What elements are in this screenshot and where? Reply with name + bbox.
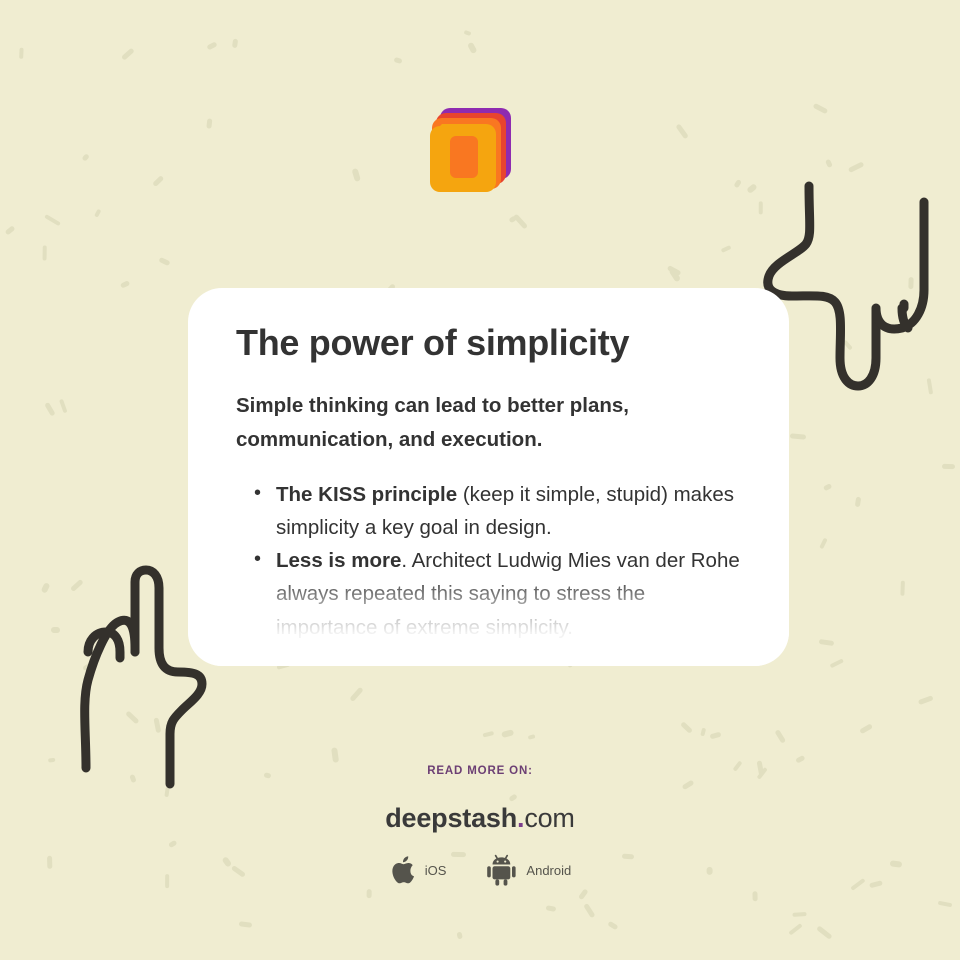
- ios-label: iOS: [425, 863, 447, 878]
- texture-fleck: [501, 730, 514, 738]
- texture-fleck: [367, 889, 372, 898]
- texture-fleck: [842, 339, 853, 350]
- texture-fleck: [482, 730, 493, 737]
- texture-fleck: [159, 257, 171, 266]
- bullet-lead-term: Less is more: [276, 549, 401, 572]
- texture-fleck: [41, 583, 50, 594]
- texture-fleck: [393, 56, 402, 63]
- texture-fleck: [926, 378, 933, 394]
- brand-wordmark[interactable]: deepstash.com: [0, 803, 960, 834]
- texture-fleck: [81, 153, 90, 162]
- texture-fleck: [44, 214, 60, 226]
- list-item: Less is more. Architect Ludwig Mies van …: [276, 544, 741, 644]
- texture-fleck: [456, 931, 463, 939]
- texture-fleck: [710, 732, 722, 740]
- texture-fleck: [675, 123, 689, 139]
- texture-fleck: [667, 265, 682, 276]
- texture-fleck: [789, 433, 805, 439]
- texture-fleck: [126, 710, 140, 724]
- texture-fleck: [817, 925, 833, 939]
- texture-fleck: [331, 747, 339, 762]
- texture-fleck: [43, 245, 47, 260]
- texture-fleck: [121, 47, 134, 60]
- texture-fleck: [51, 626, 60, 632]
- texture-fleck: [508, 215, 517, 223]
- texture-fleck: [818, 639, 833, 646]
- card-bullet-list: The KISS principle (keep it simple, stup…: [236, 478, 741, 644]
- texture-fleck: [513, 214, 528, 230]
- android-store-badge[interactable]: Android: [486, 854, 571, 886]
- texture-fleck: [759, 202, 763, 215]
- texture-fleck: [233, 38, 239, 47]
- texture-fleck: [44, 402, 55, 417]
- texture-fleck: [578, 888, 588, 900]
- texture-fleck: [917, 695, 933, 705]
- texture-fleck: [796, 755, 806, 763]
- texture-fleck: [819, 537, 828, 549]
- texture-fleck: [350, 687, 364, 702]
- texture-fleck: [467, 41, 477, 53]
- texture-fleck: [700, 728, 706, 737]
- android-label: Android: [526, 863, 571, 878]
- read-more-label: READ MORE ON:: [0, 765, 960, 777]
- idea-card: The power of simplicity Simple thinking …: [188, 288, 789, 666]
- texture-fleck: [94, 209, 101, 218]
- brand-name: deepstash: [385, 803, 517, 833]
- texture-fleck: [734, 179, 742, 188]
- texture-fleck: [752, 891, 757, 901]
- texture-fleck: [19, 47, 24, 58]
- texture-fleck: [152, 175, 164, 187]
- texture-fleck: [830, 658, 844, 668]
- texture-fleck: [942, 464, 955, 469]
- texture-fleck: [900, 580, 905, 595]
- texture-fleck: [859, 723, 872, 734]
- texture-fleck: [546, 905, 556, 911]
- texture-fleck: [82, 662, 92, 671]
- texture-fleck: [669, 267, 681, 282]
- texture-fleck: [938, 901, 953, 908]
- texture-fleck: [848, 162, 865, 173]
- texture-fleck: [774, 729, 786, 744]
- texture-fleck: [58, 398, 67, 413]
- android-icon: [486, 854, 517, 886]
- texture-fleck: [813, 103, 828, 114]
- footer: READ MORE ON: deepstash.com iOS: [0, 765, 960, 886]
- brand-tld: com: [524, 803, 574, 833]
- texture-fleck: [793, 911, 807, 916]
- texture-fleck: [789, 923, 803, 936]
- list-item: The KISS principle (keep it simple, stup…: [276, 478, 741, 544]
- texture-fleck: [239, 921, 252, 927]
- texture-fleck: [154, 718, 161, 734]
- card-title: The power of simplicity: [236, 322, 741, 363]
- bullet-lead-term: The KISS principle: [276, 483, 457, 506]
- texture-fleck: [206, 118, 212, 129]
- card-subtitle: Simple thinking can lead to better plans…: [236, 389, 741, 455]
- texture-fleck: [721, 245, 732, 253]
- texture-fleck: [206, 41, 217, 50]
- texture-fleck: [746, 184, 757, 195]
- card-content: The power of simplicity Simple thinking …: [188, 288, 789, 644]
- texture-fleck: [527, 734, 535, 740]
- texture-fleck: [464, 29, 472, 35]
- texture-fleck: [854, 496, 861, 506]
- app-store-badges: iOS: [0, 854, 960, 886]
- texture-fleck: [121, 281, 131, 289]
- texture-fleck: [908, 277, 913, 290]
- texture-fleck: [4, 225, 15, 235]
- texture-fleck: [823, 484, 832, 491]
- texture-fleck: [825, 158, 833, 167]
- texture-fleck: [352, 168, 361, 182]
- texture-fleck: [607, 921, 618, 930]
- ios-store-badge[interactable]: iOS: [389, 854, 447, 886]
- texture-fleck: [71, 579, 85, 592]
- apple-icon: [389, 854, 416, 886]
- texture-fleck: [583, 902, 595, 917]
- texture-fleck: [48, 757, 56, 762]
- texture-fleck: [680, 721, 693, 734]
- deepstash-cube-logo: [428, 104, 516, 196]
- infographic-card-canvas: The power of simplicity Simple thinking …: [0, 0, 960, 960]
